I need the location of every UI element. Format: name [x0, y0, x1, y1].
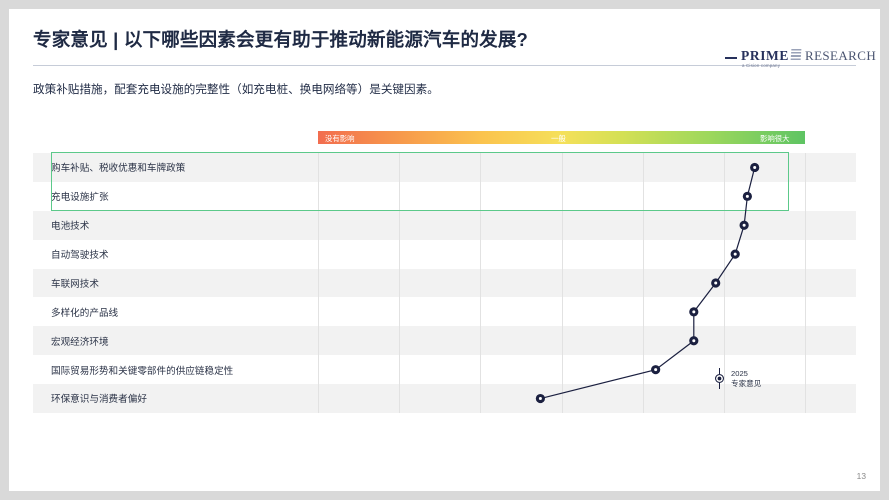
data-point-inner: [654, 368, 657, 371]
legend-tick-bottom: [719, 383, 720, 389]
data-point-inner: [692, 310, 695, 313]
data-point-inner: [753, 166, 756, 169]
chart-legend: 2025 专家意见: [715, 367, 805, 397]
data-point-inner: [714, 282, 717, 285]
data-point[interactable]: [651, 365, 660, 374]
data-point-inner: [746, 195, 749, 198]
logo-bars-icon: [791, 49, 802, 60]
page-title: 专家意见 | 以下哪些因素会更有助于推动新能源汽车的发展?: [33, 26, 528, 52]
data-point[interactable]: [711, 278, 720, 287]
logo-secondary-text: RESEARCH: [805, 48, 876, 64]
data-point-inner: [539, 397, 542, 400]
scale-label-mid: 一般: [551, 133, 566, 144]
data-point[interactable]: [750, 163, 759, 172]
logo-tagline: a Cision company: [742, 63, 780, 68]
impact-chart: 没有影响 一般 影响很大 购车补贴、税收优惠和车牌政策充电设施扩张电池技术自动驾…: [33, 119, 856, 419]
data-point[interactable]: [536, 394, 545, 403]
subtitle-text: 政策补贴措施，配套充电设施的完整性（如充电桩、换电网络等）是关键因素。: [33, 81, 439, 97]
page-number: 13: [857, 471, 866, 481]
legend-series-name: 专家意见: [731, 378, 761, 389]
logo-dash: [725, 57, 737, 59]
data-point[interactable]: [689, 307, 698, 316]
scale-label-high: 影响很大: [760, 133, 790, 144]
data-point[interactable]: [740, 221, 749, 230]
data-point-inner: [692, 339, 695, 342]
logo-primary-text: PRIME: [741, 48, 789, 64]
legend-marker-icon: [715, 374, 724, 383]
data-point[interactable]: [743, 192, 752, 201]
series-line: [540, 167, 754, 398]
prime-research-logo: PRIME a Cision company RESEARCH: [725, 42, 865, 72]
scale-label-low: 没有影响: [325, 133, 355, 144]
data-point-inner: [734, 253, 737, 256]
data-point[interactable]: [689, 336, 698, 345]
slide-header: 专家意见 | 以下哪些因素会更有助于推动新能源汽车的发展? PRIME a Ci…: [9, 9, 880, 65]
data-point-inner: [743, 224, 746, 227]
slide-canvas: 专家意见 | 以下哪些因素会更有助于推动新能源汽车的发展? PRIME a Ci…: [9, 9, 880, 491]
legend-year: 2025: [731, 369, 748, 378]
data-point[interactable]: [731, 250, 740, 259]
